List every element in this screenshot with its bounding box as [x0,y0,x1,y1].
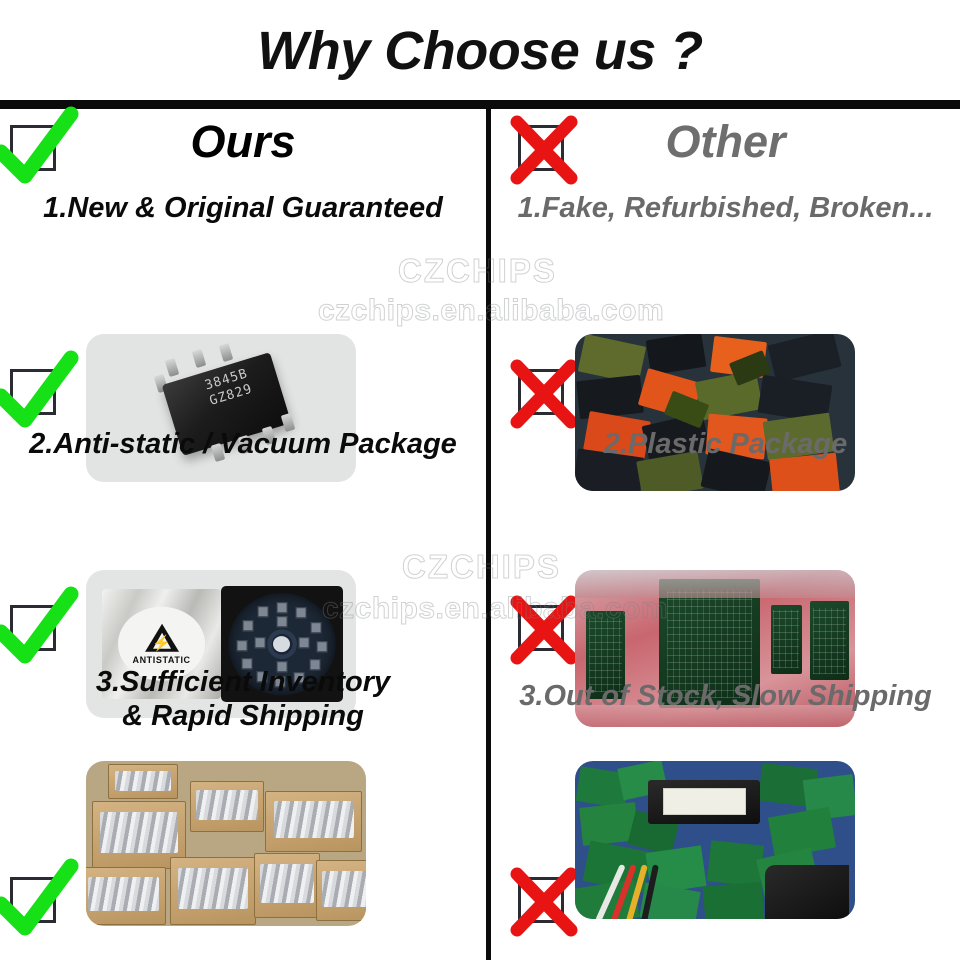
cross-mark-other-1 [518,369,564,415]
column-other: Other 1.Fake, Refurbished, Broken... [491,109,960,960]
row-ours-1: 1.New & Original Guaranteed [0,191,486,426]
check-mark-heading-ours [10,125,56,171]
cross-mark-icon [503,864,585,942]
cross-mark-icon [503,356,585,434]
cross-mark-other-2 [518,605,564,651]
column-ours: Ours 1.New & Original Guaranteed [0,109,486,960]
row-label-other-1: 1.Fake, Refurbished, Broken... [491,191,960,225]
row-ours-2: 2.Anti-static / Vacuum Package ⚡ ANTISTA… [0,427,486,662]
cross-mark-heading-other [518,125,564,171]
cross-mark-other-3 [518,877,564,923]
row-label-ours-1: 1.New & Original Guaranteed [0,191,486,225]
antistatic-label-text: ANTISTATIC [132,654,190,664]
high-voltage-triangle-icon: ⚡ [145,623,179,651]
row-label-other-2: 2.Plastic Package [491,427,960,461]
cross-mark-icon [503,592,585,670]
lightning-bolt-icon: ⚡ [152,635,171,650]
check-mark-icon [0,864,77,942]
page-title: Why Choose us ? [0,22,960,81]
photo-other-out-of-stock-scrap [575,761,855,919]
check-mark-icon [0,112,77,190]
photo-content [86,761,366,926]
row-label-other-3: 3.Out of Stock, Slow Shipping [491,679,960,713]
row-other-1: 1.Fake, Refurbished, Broken... [491,191,960,426]
cross-mark-icon [503,112,585,190]
check-mark-ours-3 [10,877,56,923]
photo-ours-inventory-boxes [86,761,366,926]
photo-content [575,761,855,919]
check-mark-ours-1 [10,369,56,415]
check-mark-ours-2 [10,605,56,651]
check-mark-icon [0,592,77,670]
row-label-ours-2: 2.Anti-static / Vacuum Package [0,427,486,461]
module-label [663,788,746,815]
header-divider [0,100,960,109]
check-mark-icon [0,356,77,434]
why-choose-us-poster: Why Choose us ? Ours 1.New & Original Gu… [0,0,960,960]
row-other-2: 2.Plastic Package [491,427,960,662]
row-other-3: 3.Out of Stock, Slow Shipping [491,679,960,955]
row-ours-3: 3.Sufficient Inventory & Rapid Shipping [0,665,486,955]
row-label-ours-3: 3.Sufficient Inventory & Rapid Shipping [0,665,486,733]
black-module [648,780,760,824]
